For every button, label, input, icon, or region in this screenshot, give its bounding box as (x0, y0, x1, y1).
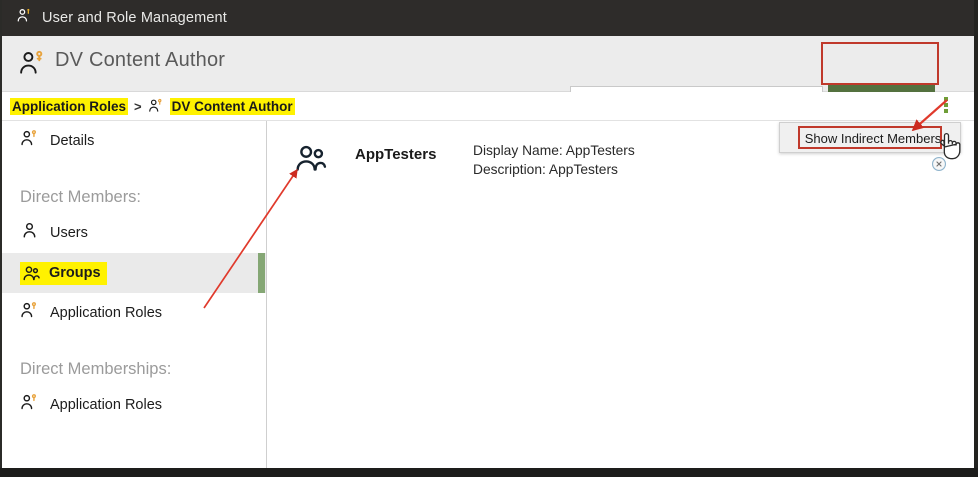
sidebar-item-application-roles-members[interactable]: Application Roles (2, 293, 266, 333)
user-role-icon (16, 7, 33, 29)
user-icon (20, 221, 39, 245)
group-icon (294, 142, 328, 181)
breadcrumb-item-current: DV Content Author (170, 98, 295, 115)
window-frame-left (0, 0, 2, 477)
sidebar-item-application-roles-memberships[interactable]: Application Roles (2, 385, 266, 425)
menu-item-show-indirect-members[interactable]: Show Indirect Members (802, 127, 944, 149)
selected-accent-bar (258, 253, 265, 293)
page-title: DV Content Author (55, 49, 225, 72)
sidebar-item-label: Application Roles (50, 305, 162, 321)
sidebar-item-label: Application Roles (50, 397, 162, 413)
sidebar-item-label: Groups (49, 265, 101, 281)
breadcrumb-separator: > (134, 99, 142, 114)
sidebar-item-label: Users (50, 225, 88, 241)
kebab-dot (944, 103, 948, 107)
group-display-name: Display Name: AppTesters (473, 141, 635, 160)
group-description: Description: AppTesters (473, 160, 635, 179)
main-content: AppTesters Display Name: AppTesters Desc… (267, 121, 974, 468)
sidebar-item-groups[interactable]: Groups (2, 253, 266, 293)
page-header: DV Content Author Add Groups (2, 36, 974, 92)
app-bar: User and Role Management (2, 0, 974, 36)
window-frame-right (974, 0, 978, 477)
sidebar-item-groups-highlight: Groups (20, 262, 107, 285)
kebab-dot (944, 109, 948, 113)
kebab-dot (944, 97, 948, 101)
kebab-dropdown-menu: Show Indirect Members (779, 122, 961, 153)
app-role-icon (20, 129, 39, 153)
sidebar-spacer (2, 161, 266, 173)
kebab-menu-icon[interactable] (939, 94, 953, 116)
app-role-icon (148, 98, 164, 114)
group-meta: Display Name: AppTesters Description: Ap… (473, 141, 635, 179)
close-circle-icon[interactable] (930, 155, 948, 173)
window-frame-bottom (0, 468, 978, 477)
sidebar-item-details[interactable]: Details (2, 121, 266, 161)
breadcrumb-item-application-roles[interactable]: Application Roles (10, 98, 128, 115)
sidebar-section-direct-members: Direct Members: (2, 173, 266, 213)
group-icon (22, 264, 41, 283)
app-bar-title: User and Role Management (42, 10, 227, 26)
group-result-row[interactable]: AppTesters Display Name: AppTesters Desc… (294, 138, 635, 181)
sidebar-item-label: Details (50, 133, 94, 149)
breadcrumb: Application Roles > DV Content Author (2, 92, 974, 121)
sidebar-spacer (2, 333, 266, 345)
app-role-icon (20, 301, 39, 325)
app-window: User and Role Management DV Content Auth… (0, 0, 978, 477)
group-name: AppTesters (355, 146, 473, 163)
sidebar: Details Direct Members: Users (2, 121, 267, 468)
sidebar-item-users[interactable]: Users (2, 213, 266, 253)
app-role-icon (18, 49, 47, 83)
sidebar-section-direct-memberships: Direct Memberships: (2, 345, 266, 385)
app-role-icon (20, 393, 39, 417)
